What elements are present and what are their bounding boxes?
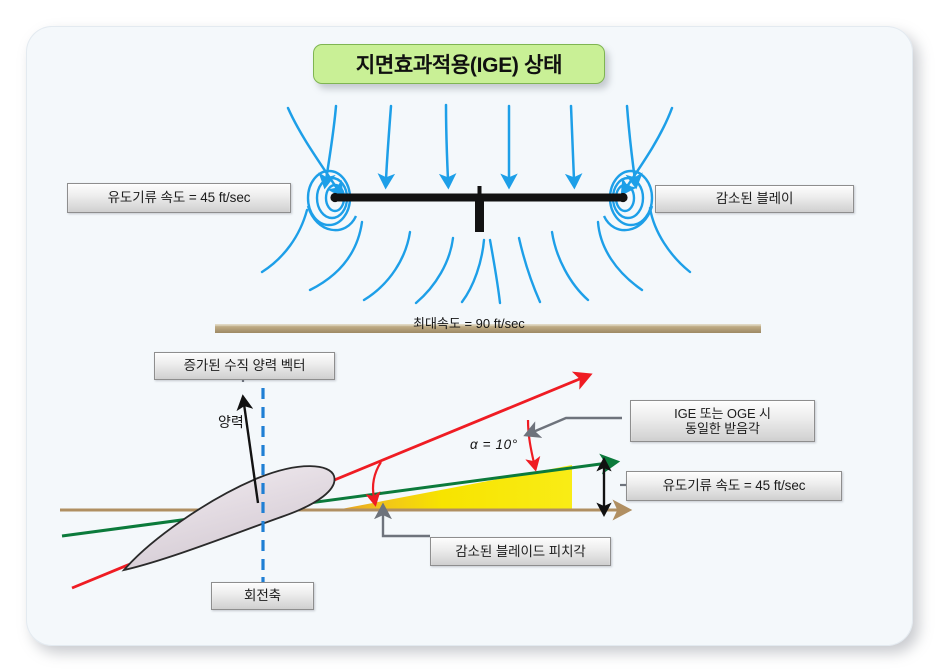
label-alpha-angle: α = 10°	[470, 437, 518, 452]
label-max-speed: 최대속도 = 90 ft/sec	[413, 313, 525, 332]
label-lift: 양력	[218, 412, 244, 432]
label-reduced-blade: 감소된 블레이	[655, 185, 854, 213]
label-induced-flow-top: 유도기류 속도 = 45 ft/sec	[67, 183, 291, 213]
figure-canvas: 지면효과적용(IGE) 상태 유도기류 속도 = 45 ft/sec 감소된 블…	[0, 0, 939, 672]
label-reduced-pitch: 감소된 블레이드 피치각	[430, 537, 611, 566]
page-title: 지면효과적용(IGE) 상태	[313, 44, 605, 84]
label-rotation-axis: 회전축	[211, 582, 314, 610]
label-increased-vertical-lift: 증가된 수직 양력 벡터	[154, 352, 335, 380]
label-same-aoa: IGE 또는 OGE 시 동일한 받음각	[630, 400, 815, 442]
label-induced-flow-bottom: 유도기류 속도 = 45 ft/sec	[626, 471, 842, 501]
